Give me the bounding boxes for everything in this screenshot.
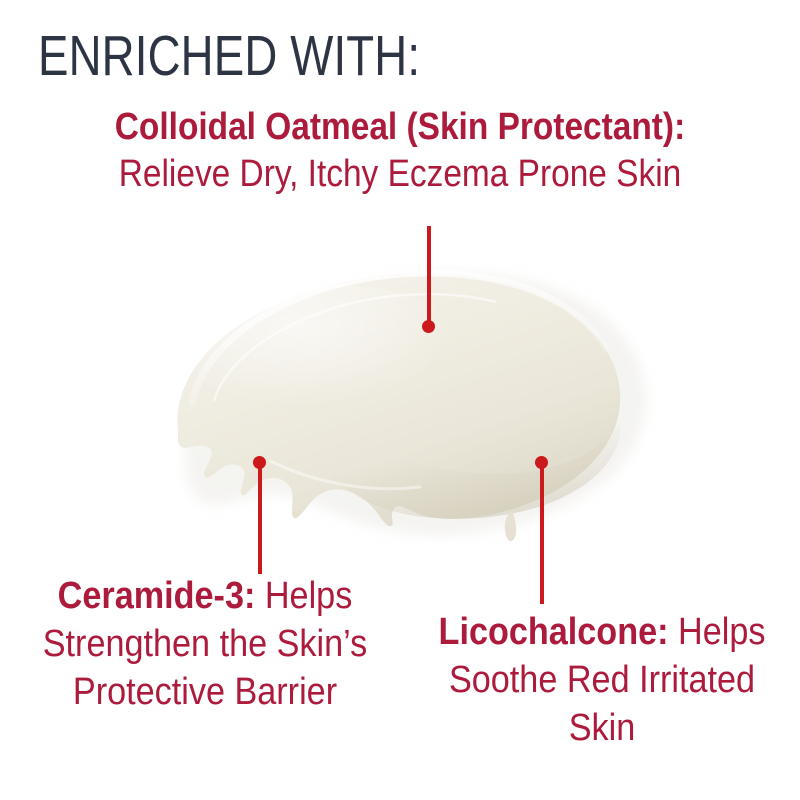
infographic-canvas: ENRICHED WITH: xyxy=(0,0,800,800)
cream-swatch xyxy=(120,225,660,555)
callout-lead-colloidal-oatmeal: Colloidal Oatmeal (Skin Protectant): xyxy=(66,104,735,151)
callout-lead-ceramide-3: Ceramide-3: xyxy=(58,575,256,617)
callout-licochalcone: Licochalcone: Helps Soothe Red Irritated… xyxy=(431,608,773,752)
callout-ceramide-3: Ceramide-3: Helps Strengthen the Skin’s … xyxy=(30,572,381,716)
callout-lead-licochalcone: Licochalcone: xyxy=(439,611,669,653)
pointer-licochalcone xyxy=(535,456,548,606)
callout-colloidal-oatmeal: Colloidal Oatmeal (Skin Protectant): Rel… xyxy=(66,104,735,198)
callout-body-colloidal-oatmeal: Relieve Dry, Itchy Eczema Prone Skin xyxy=(66,151,735,198)
pointer-line xyxy=(540,462,544,604)
pointer-ceramide-3 xyxy=(253,456,266,576)
pointer-colloidal-oatmeal xyxy=(422,226,435,334)
pointer-line xyxy=(258,462,262,574)
pointer-dot xyxy=(535,456,548,469)
pointer-dot xyxy=(422,320,435,333)
pointer-dot xyxy=(253,456,266,469)
pointer-line xyxy=(427,226,431,327)
page-title: ENRICHED WITH: xyxy=(38,26,614,86)
